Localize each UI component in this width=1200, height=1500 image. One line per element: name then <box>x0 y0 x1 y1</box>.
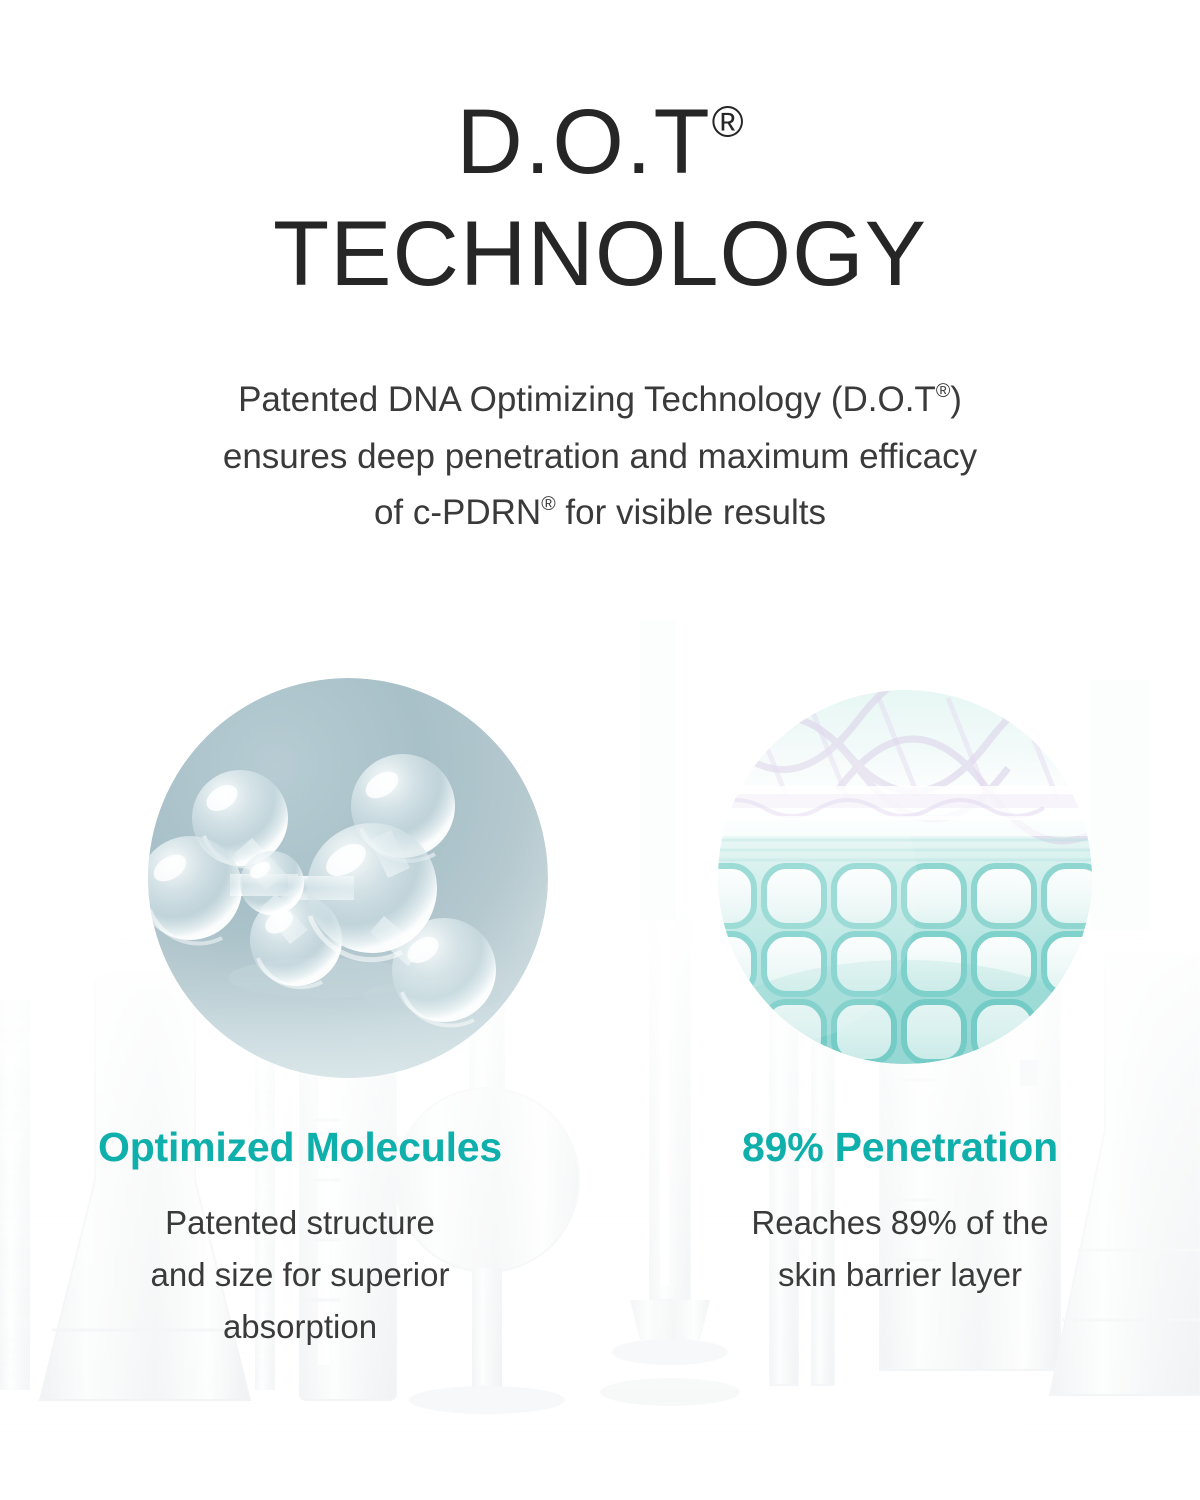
page-title: D.O.T® TECHNOLOGY <box>0 96 1200 300</box>
body-line: skin barrier layer <box>600 1249 1200 1301</box>
subtitle-line-2: ensures deep penetration and maximum eff… <box>0 429 1200 486</box>
feature-heading-penetration: 89% Penetration <box>600 1124 1200 1171</box>
skin-barrier-lattice-image <box>718 690 1092 1064</box>
title-line-2: TECHNOLOGY <box>0 208 1200 300</box>
body-line: Patented structure <box>0 1197 600 1249</box>
feature-heading-optimized-molecules: Optimized Molecules <box>0 1124 600 1171</box>
skin-barrier-illustration <box>718 690 1092 1064</box>
body-line: absorption <box>0 1301 600 1353</box>
infographic-page: D.O.T® TECHNOLOGY Patented DNA Optimizin… <box>0 0 1200 1500</box>
feature-body-penetration: Reaches 89% of the skin barrier layer <box>600 1197 1200 1301</box>
molecule-render-image <box>148 678 548 1078</box>
feature-body-optimized-molecules: Patented structure and size for superior… <box>0 1197 600 1352</box>
molecule-sphere <box>240 851 304 915</box>
title-line-1: D.O.T® <box>0 96 1200 188</box>
subtitle: Patented DNA Optimizing Technology (D.O.… <box>0 372 1200 542</box>
subtitle-line-1-prefix: Patented DNA Optimizing Technology (D.O.… <box>238 380 936 419</box>
feature-optimized-molecules: Optimized Molecules Patented structure a… <box>0 660 600 1352</box>
body-line: and size for superior <box>0 1249 600 1301</box>
registered-trademark-icon: ® <box>936 380 950 402</box>
subtitle-line-3-suffix: for visible results <box>556 493 826 532</box>
registered-trademark-icon: ® <box>541 493 555 515</box>
header-block: D.O.T® TECHNOLOGY Patented DNA Optimizin… <box>0 0 1200 542</box>
body-line: Reaches 89% of the <box>600 1197 1200 1249</box>
subtitle-line-3: of c-PDRN® for visible results <box>0 485 1200 542</box>
registered-trademark-icon: ® <box>712 98 744 146</box>
subtitle-line-3-prefix: of c-PDRN <box>374 493 541 532</box>
feature-penetration: 89% Penetration Reaches 89% of the skin … <box>600 660 1200 1352</box>
molecule-illustration <box>148 678 548 1078</box>
subtitle-line-1: Patented DNA Optimizing Technology (D.O.… <box>0 372 1200 429</box>
subtitle-line-1-suffix: ) <box>950 380 962 419</box>
feature-columns: Optimized Molecules Patented structure a… <box>0 660 1200 1352</box>
title-line-1-text: D.O.T <box>456 91 711 193</box>
